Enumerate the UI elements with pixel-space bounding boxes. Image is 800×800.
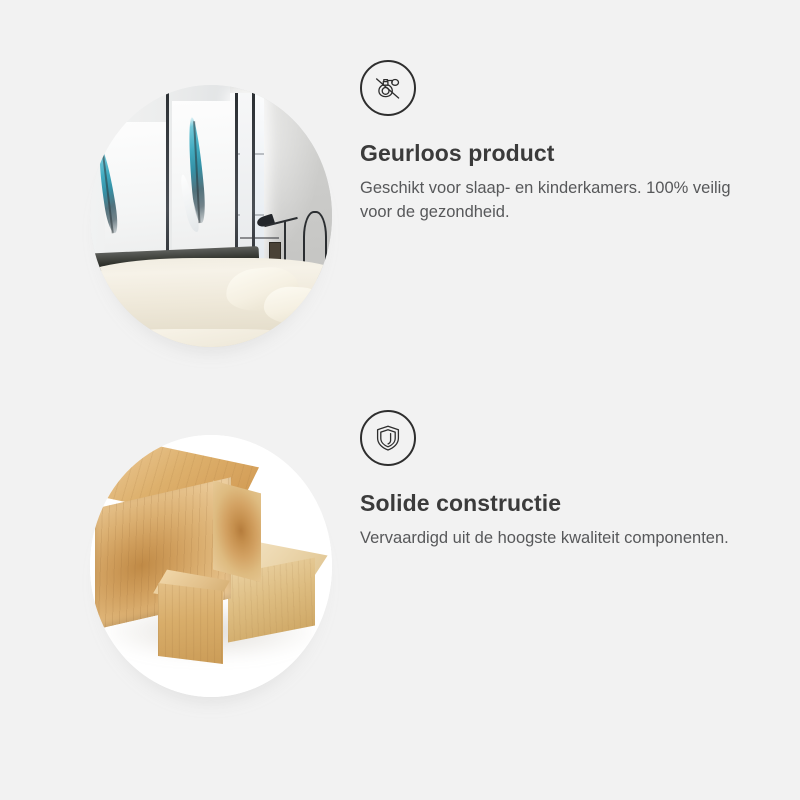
feature-block-solid-construction: Solide constructie Vervaardigd uit de ho… (0, 410, 800, 730)
feature-content-odourless-product: Geurloos product Geschikt voor slaap- en… (360, 60, 760, 225)
feature-heading: Geurloos product (360, 140, 760, 168)
shield-icon (360, 410, 416, 466)
side-table (240, 237, 279, 239)
wooden-blocks-scene (90, 435, 332, 697)
small-block-front-face (158, 583, 223, 664)
feature-description: Geschikt voor slaap- en kinderkamers. 10… (360, 176, 752, 226)
feature-image-odourless-product (90, 85, 332, 347)
circular-photo-bedroom (90, 85, 332, 347)
circular-photo-wooden-blocks (90, 435, 332, 697)
feature-image-solid-construction (90, 435, 332, 697)
feature-block-odourless-product: Geurloos product Geschikt voor slaap- en… (0, 60, 800, 380)
feature-content-solid-construction: Solide constructie Vervaardigd uit de ho… (360, 410, 760, 550)
chair-silhouette (303, 211, 327, 269)
bedroom-scene (90, 85, 332, 347)
product-feature-page: Geurloos product Geschikt voor slaap- en… (0, 0, 800, 800)
feature-description: Vervaardigd uit de hoogste kwaliteit com… (360, 526, 752, 551)
duvet (92, 329, 298, 347)
no-perfume-icon (360, 60, 416, 116)
feature-heading: Solide constructie (360, 490, 760, 518)
beam-end-grain-face (213, 481, 261, 583)
